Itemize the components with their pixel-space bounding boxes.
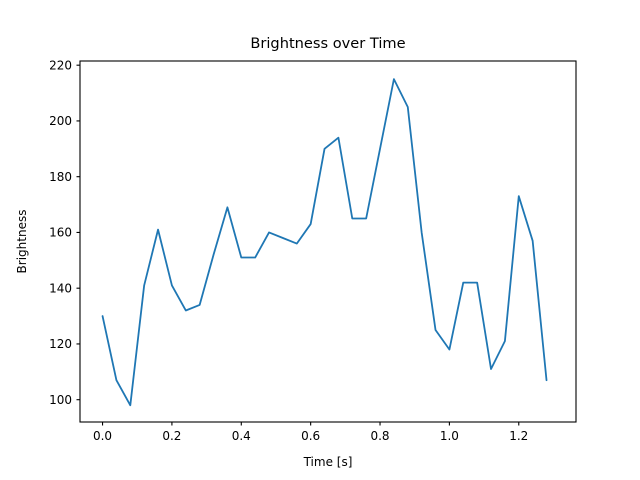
chart-title: Brightness over Time	[250, 35, 405, 52]
x-tick-label: 0.0	[93, 429, 112, 443]
y-tick-label: 220	[49, 58, 72, 72]
y-tick-label: 200	[49, 114, 72, 128]
x-tick-label: 0.6	[301, 429, 320, 443]
x-tick-label: 0.2	[162, 429, 181, 443]
brightness-line-chart: Brightness over Time 0.00.20.40.60.81.01…	[0, 0, 640, 480]
matplotlib-figure: Brightness over Time 0.00.20.40.60.81.01…	[0, 0, 640, 480]
y-tick-label: 120	[49, 337, 72, 351]
x-tick-label: 1.0	[440, 429, 459, 443]
x-tick-label: 0.8	[370, 429, 389, 443]
x-tick-label: 0.4	[232, 429, 251, 443]
y-axis-label: Brightness	[15, 210, 29, 274]
y-tick-label: 180	[49, 170, 72, 184]
y-tick-label: 100	[49, 393, 72, 407]
x-axis-label: Time [s]	[303, 455, 353, 469]
x-tick-label: 1.2	[509, 429, 528, 443]
y-tick-label: 160	[49, 226, 72, 240]
y-tick-label: 140	[49, 281, 72, 295]
